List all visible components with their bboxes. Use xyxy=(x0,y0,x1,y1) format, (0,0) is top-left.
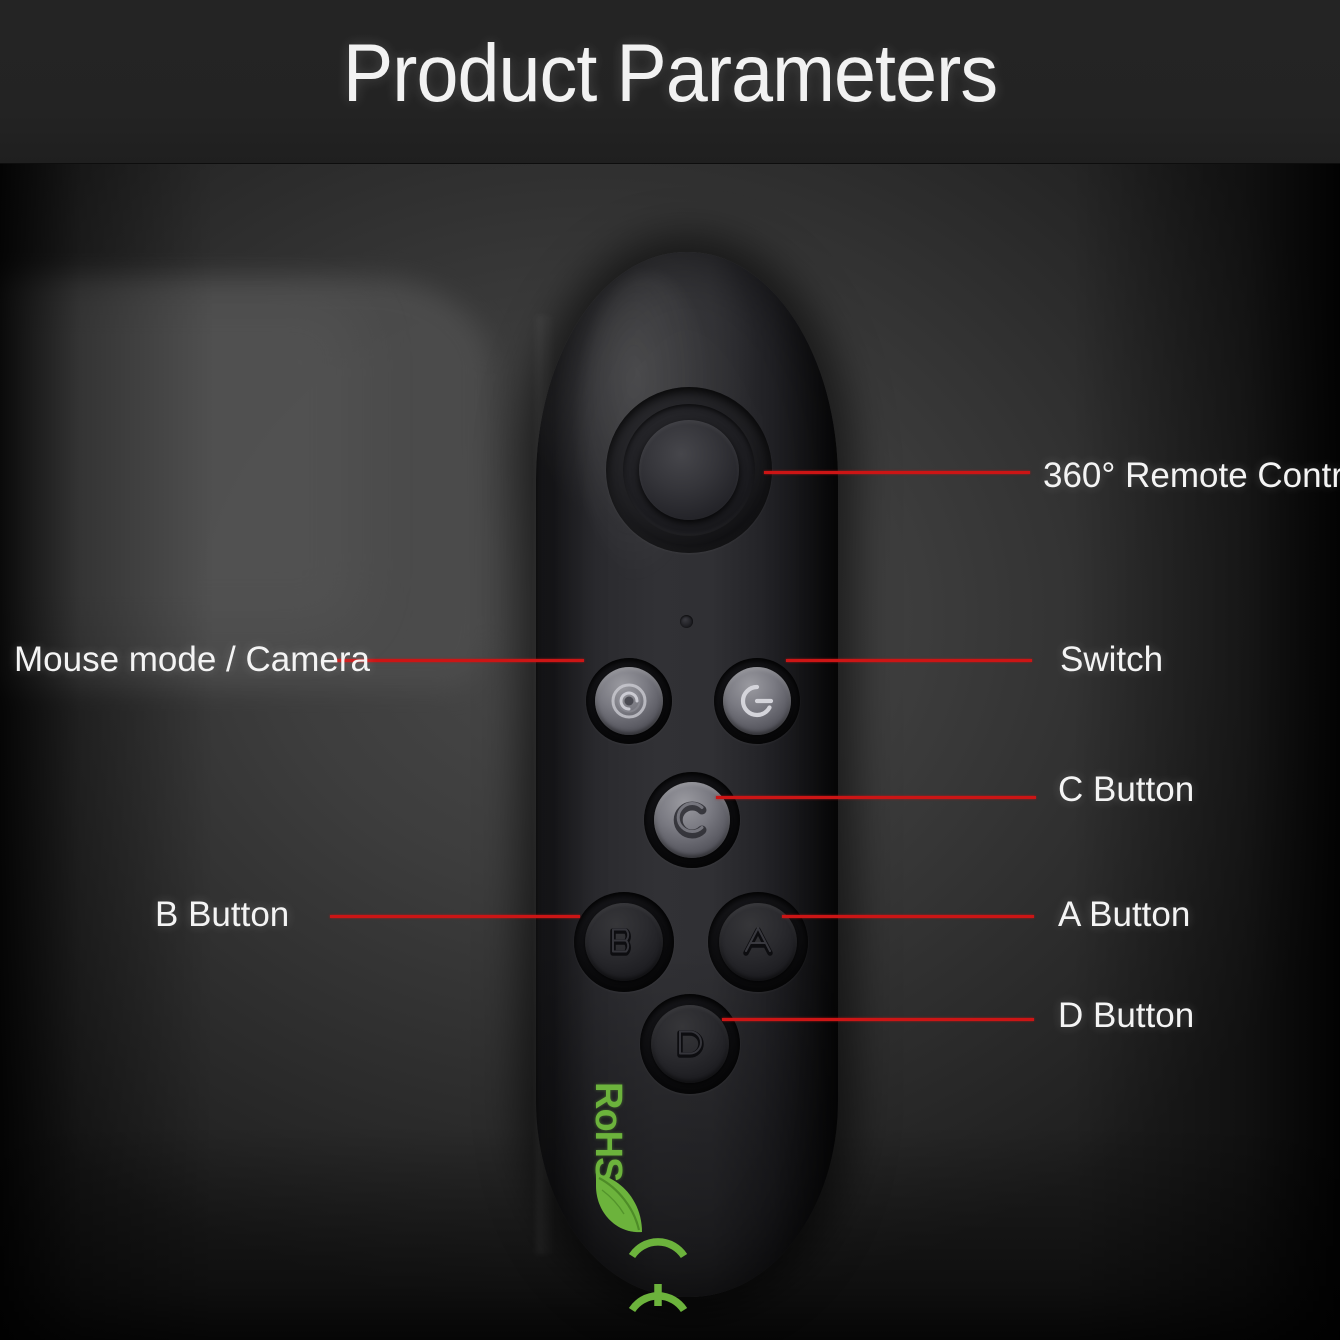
power-button[interactable] xyxy=(714,658,800,744)
leader-line-d-button xyxy=(722,1018,1034,1021)
power-icon xyxy=(734,678,780,724)
letter-d-icon xyxy=(666,1020,714,1068)
button-cap xyxy=(723,667,791,735)
letter-a-icon xyxy=(734,918,782,966)
button-cap xyxy=(585,903,663,981)
joystick-thumbstick[interactable] xyxy=(639,420,739,520)
rohs-label: RoHS xyxy=(589,1082,627,1181)
ce-icon xyxy=(620,1214,696,1334)
letter-b-icon xyxy=(600,918,648,966)
leader-line-remote-control-360 xyxy=(764,471,1030,474)
callout-label-remote-control-360: 360° Remote Control xyxy=(1043,456,1340,496)
button-cap xyxy=(651,1005,729,1083)
callout-label-c-button: C Button xyxy=(1058,770,1194,810)
button-cap xyxy=(654,782,730,858)
mouse-mode-button[interactable] xyxy=(586,658,672,744)
callout-label-switch: Switch xyxy=(1060,640,1163,680)
letter-c-icon xyxy=(666,794,718,846)
callout-label-d-button: D Button xyxy=(1058,996,1194,1036)
callout-label-b-button: B Button xyxy=(155,895,289,935)
joystick-well[interactable] xyxy=(606,387,772,553)
leader-line-mouse-mode-camera xyxy=(336,659,584,662)
certification-marks: RoHS xyxy=(640,1082,712,1272)
c-button[interactable] xyxy=(644,772,740,868)
leader-line-b-button xyxy=(330,915,580,918)
leader-line-switch xyxy=(786,659,1032,662)
d-button[interactable] xyxy=(640,994,740,1094)
ce-mark xyxy=(620,1214,696,1334)
leader-line-a-button xyxy=(782,915,1034,918)
callout-label-a-button: A Button xyxy=(1058,895,1190,935)
product-parameters-diagram: Product Parameters xyxy=(0,0,1340,1340)
remote-control-device: RoHS xyxy=(536,252,838,1297)
leader-line-c-button xyxy=(716,796,1036,799)
a-button[interactable] xyxy=(708,892,808,992)
page-title: Product Parameters xyxy=(54,22,1287,126)
header-band: Product Parameters xyxy=(0,0,1340,164)
callout-label-mouse-mode-camera: Mouse mode / Camera xyxy=(14,640,370,680)
led-indicator xyxy=(680,615,693,628)
button-cap xyxy=(595,667,663,735)
mouse-mode-icon xyxy=(607,679,651,723)
b-button[interactable] xyxy=(574,892,674,992)
